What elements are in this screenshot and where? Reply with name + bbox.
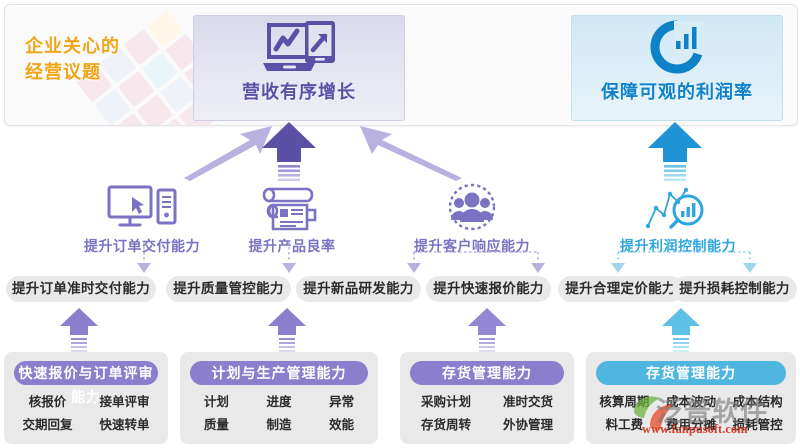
connector-order-delivery	[120, 242, 168, 276]
module-items-inventory-purple: 采购计划 准时交货 存货周转 外协管理	[408, 392, 566, 436]
connector-product-yield	[265, 242, 313, 276]
chip-fast-quotation[interactable]: 提升快速报价能力	[426, 276, 551, 302]
arrow-up-module-plan	[266, 308, 308, 356]
module-item[interactable]: 损耗管控	[727, 415, 788, 436]
module-item[interactable]: 计划	[188, 392, 245, 413]
module-items-inventory-blue: 核算周期 成本波动 成本结构 料工费 费用分摊 损耗管控	[594, 392, 788, 436]
document-roll-icon	[212, 176, 372, 232]
module-item[interactable]: 进度	[251, 392, 308, 413]
module-item[interactable]: 准时交货	[490, 392, 566, 413]
module-item[interactable]: 采购计划	[408, 392, 484, 413]
goal-card-profit[interactable]: 保障可观的利润率	[571, 15, 783, 121]
module-item[interactable]: 成本结构	[727, 392, 788, 413]
arrow-up-module-inventory-purple	[466, 308, 508, 356]
goal-label-revenue: 营收有序增长	[194, 78, 404, 104]
module-item[interactable]: 核报价	[12, 392, 83, 413]
connector-customer-response	[396, 242, 556, 276]
module-item[interactable]: 费用分摊	[661, 415, 722, 436]
module-item[interactable]: 料工费	[594, 415, 655, 436]
module-plan-production[interactable]: 计划与生产管理能力 计划 进度 异常 质量 制造 效能	[180, 352, 378, 444]
module-title-quotation: 快速报价与订单评审能力	[14, 361, 158, 385]
module-item[interactable]: 异常	[313, 392, 370, 413]
arrow-up-profit	[648, 122, 702, 184]
module-items-quotation: 核报价 接单评审 交期回复 快速转单	[12, 392, 160, 436]
module-item[interactable]: 制造	[251, 415, 308, 436]
chip-quality-control[interactable]: 提升质量管控能力	[166, 276, 291, 302]
module-item[interactable]: 质量	[188, 415, 245, 436]
module-title-inventory-blue: 存货管理能力	[596, 361, 786, 385]
donut-bar-chart-icon	[572, 16, 782, 78]
arrow-diagonal-right	[356, 124, 466, 182]
arrow-up-revenue	[262, 122, 316, 184]
laptop-chart-tablet-icon	[194, 16, 404, 78]
module-item[interactable]: 效能	[313, 415, 370, 436]
brand-title-line2: 经营议题	[25, 59, 120, 85]
chip-on-time-delivery[interactable]: 提升订单准时交付能力	[6, 276, 156, 302]
arrow-up-module-inventory-blue	[660, 308, 702, 356]
module-quotation-order-review[interactable]: 快速报价与订单评审能力 核报价 接单评审 交期回复 快速转单	[4, 352, 168, 444]
goal-label-profit: 保障可观的利润率	[572, 78, 782, 104]
header-panel: 企业关心的 经营议题	[4, 4, 798, 126]
module-title-plan: 计划与生产管理能力	[190, 361, 368, 385]
module-item[interactable]: 核算周期	[594, 392, 655, 413]
chip-loss-control[interactable]: 提升损耗控制能力	[672, 276, 797, 302]
chip-new-product-rd[interactable]: 提升新品研发能力	[296, 276, 421, 302]
people-group-icon	[382, 176, 562, 232]
module-item[interactable]: 外协管理	[490, 415, 566, 436]
chip-rational-pricing[interactable]: 提升合理定价能力	[558, 276, 683, 302]
module-item[interactable]: 存货周转	[408, 415, 484, 436]
module-item[interactable]: 成本波动	[661, 392, 722, 413]
module-item[interactable]: 快速转单	[89, 415, 160, 436]
brand-title-line1: 企业关心的	[25, 33, 120, 59]
goal-card-revenue[interactable]: 营收有序增长	[193, 15, 405, 121]
module-item[interactable]: 接单评审	[89, 392, 160, 413]
magnifier-chart-icon	[588, 176, 768, 232]
module-items-plan: 计划 进度 异常 质量 制造 效能	[188, 392, 370, 436]
arrow-up-module-quotation	[58, 308, 100, 356]
module-item[interactable]: 交期回复	[12, 415, 83, 436]
module-inventory-purple[interactable]: 存货管理能力 采购计划 准时交货 存货周转 外协管理	[400, 352, 574, 444]
module-inventory-blue[interactable]: 存货管理能力 核算周期 成本波动 成本结构 料工费 费用分摊 损耗管控	[586, 352, 796, 444]
module-title-inventory-purple: 存货管理能力	[410, 361, 564, 385]
brand-title: 企业关心的 经营议题	[25, 33, 120, 85]
diagram-canvas: 企业关心的 经营议题	[0, 0, 800, 448]
connector-profit-control	[600, 242, 768, 276]
